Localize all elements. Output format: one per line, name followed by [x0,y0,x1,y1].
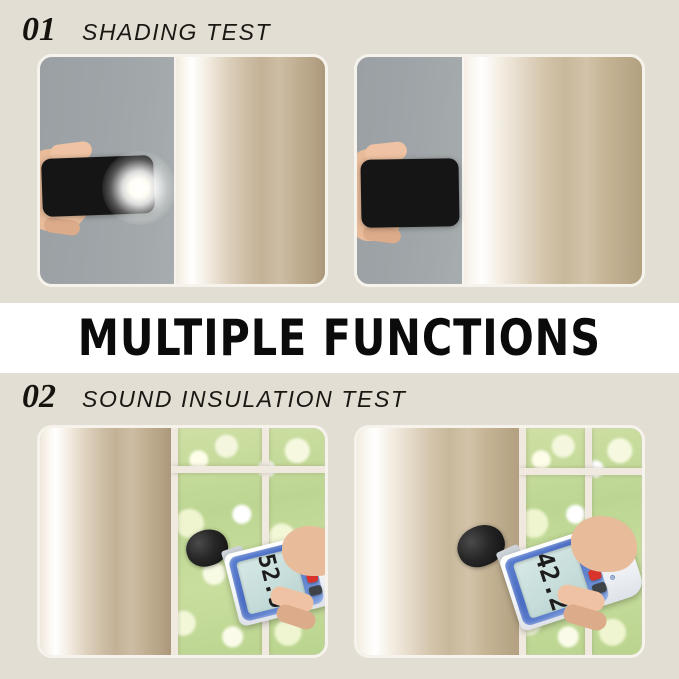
beige-curtain [174,57,325,284]
curtain-edge [174,57,176,284]
photo-panel-shading-light-on [40,57,325,284]
photo-sound-window-open: 52.9 ⊜ [40,428,325,655]
mode-button[interactable] [308,585,323,597]
hand [571,516,637,572]
photo-shading-light-on [40,57,325,284]
photo-panel-sound-behind-curtain: 42.2 ⊜ [357,428,642,655]
photo-shading-light-blocked [357,57,642,284]
curtain-edge [462,57,464,284]
section-title-01: SHADING TEST [82,21,271,44]
section-number-02: 02 [22,380,56,414]
section-heading-01: 01 SHADING TEST [22,13,271,47]
section-title-02: SOUND INSULATION TEST [82,388,407,411]
photo-sound-behind-curtain: 42.2 ⊜ [357,428,642,655]
photo-panel-sound-window-open: 52.9 ⊜ [40,428,325,655]
sound-level-meter: 52.9 ⊜ [178,518,325,638]
smartphone [360,158,459,228]
banner-multiple-functions: MULTIPLE FUNCTIONS [0,303,679,373]
meter-brand-label: ⊜ [609,573,617,583]
section-heading-02: 02 SOUND INSULATION TEST [22,380,407,414]
photo-panel-shading-light-blocked [357,57,642,284]
beige-curtain [462,57,642,284]
window-frame-horizontal [519,468,642,475]
infographic-page: 01 SHADING TEST [0,0,679,679]
beige-curtain [40,428,171,655]
brand-logo-icon: ⊜ [609,573,617,583]
flashlight-beam-icon [102,151,176,225]
sound-level-meter: 42.2 ⊜ [453,512,639,640]
banner-title: MULTIPLE FUNCTIONS [78,313,601,363]
window-frame-horizontal [171,466,325,473]
section-number-01: 01 [22,13,56,47]
